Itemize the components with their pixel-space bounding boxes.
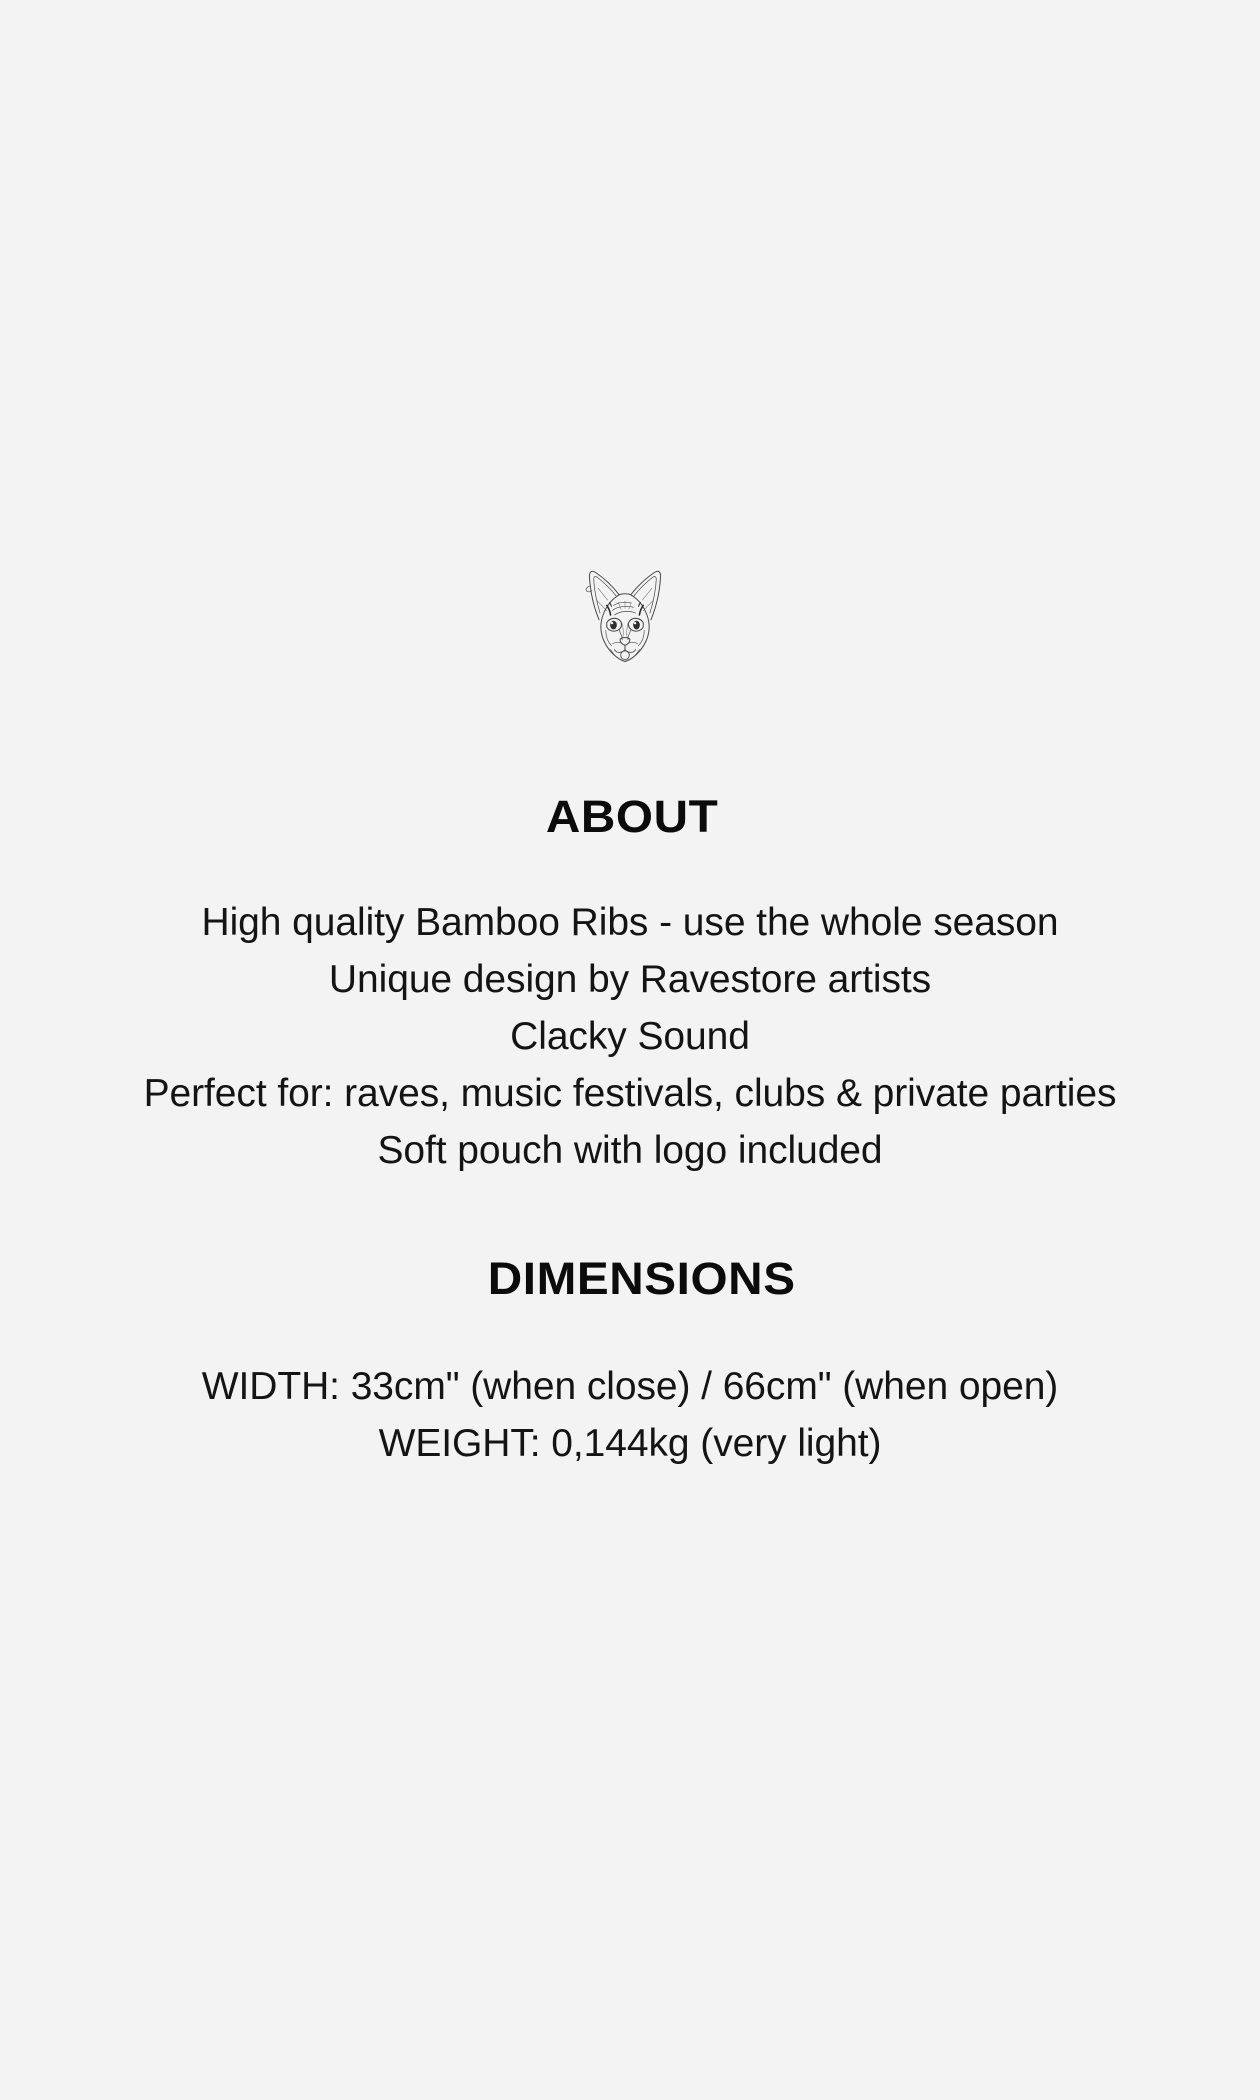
spacer xyxy=(0,844,1260,894)
about-line: High quality Bamboo Ribs - use the whole… xyxy=(0,894,1260,951)
about-line: Soft pouch with logo included xyxy=(0,1122,1260,1179)
dimensions-text: WIDTH: 33cm" (when close) / 66cm" (when … xyxy=(0,1358,1260,1472)
sphynx-cat-head-icon xyxy=(577,558,673,670)
product-info-content: ABOUT High quality Bamboo Ribs - use the… xyxy=(0,790,1260,1472)
dimensions-line: WIDTH: 33cm" (when close) / 66cm" (when … xyxy=(0,1358,1260,1415)
spacer xyxy=(0,1179,1260,1252)
about-heading: ABOUT xyxy=(0,790,1260,844)
about-line: Unique design by Ravestore artists xyxy=(0,951,1260,1008)
about-line: Perfect for: raves, music festivals, clu… xyxy=(0,1065,1260,1122)
about-text: High quality Bamboo Ribs - use the whole… xyxy=(0,894,1260,1179)
about-line: Clacky Sound xyxy=(0,1008,1260,1065)
spacer xyxy=(0,1306,1260,1358)
product-info-page: ABOUT High quality Bamboo Ribs - use the… xyxy=(0,0,1260,2100)
dimensions-line: WEIGHT: 0,144kg (very light) xyxy=(0,1415,1260,1472)
brand-logo xyxy=(0,558,1260,670)
dimensions-heading: DIMENSIONS xyxy=(0,1252,1260,1306)
